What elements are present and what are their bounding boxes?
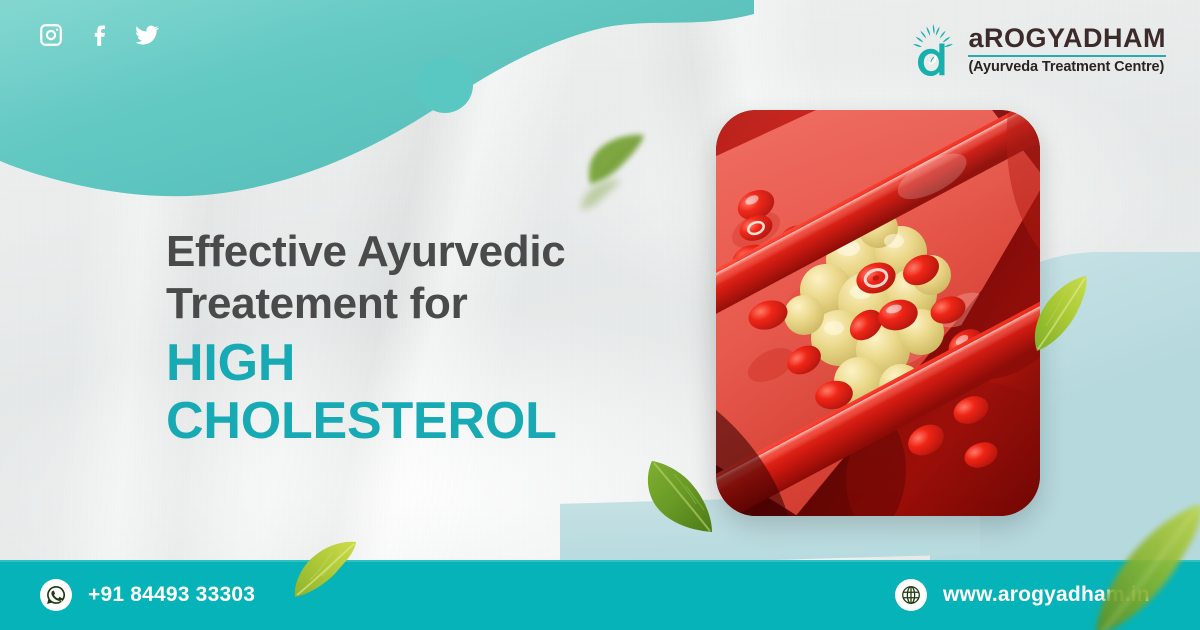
leaf-icon-bottom-left	[292, 538, 362, 600]
phone-number: +91 84493 33303	[88, 583, 255, 607]
headline-line-2: Treatement for	[166, 278, 696, 330]
brand-logo[interactable]: aROGYADHAM (Ayurveda Treatment Centre)	[908, 22, 1166, 78]
instagram-icon[interactable]	[38, 22, 64, 48]
headline-line-1: Effective Ayurvedic	[166, 226, 696, 278]
leaf-icon-top-blur	[586, 132, 648, 188]
promotional-banner: aROGYADHAM (Ayurveda Treatment Centre) E…	[0, 0, 1200, 630]
leaf-icon-right	[1030, 272, 1092, 356]
social-links	[38, 22, 160, 48]
whatsapp-icon[interactable]	[40, 579, 72, 611]
footer-bar: +91 84493 33303 www.arogyadham.in	[0, 560, 1200, 630]
hero-artery-image	[716, 110, 1040, 516]
leafy-letter-a-icon	[908, 22, 958, 78]
leaf-icon-bottom-right-blur	[1088, 498, 1200, 630]
headline-block: Effective Ayurvedic Treatement for HIGH …	[166, 226, 696, 450]
leaf-icon-center-sharp	[640, 452, 728, 538]
globe-icon[interactable]	[895, 579, 927, 611]
logo-wordmark: aROGYADHAM (Ayurveda Treatment Centre)	[968, 25, 1166, 76]
teal-dot-decoration	[417, 57, 473, 113]
facebook-icon[interactable]	[86, 22, 112, 48]
twitter-icon[interactable]	[134, 22, 160, 48]
logo-name: aROGYADHAM	[968, 25, 1166, 53]
headline-line-3-highlight: HIGH CHOLESTEROL	[166, 334, 696, 450]
logo-divider	[968, 55, 1166, 57]
artery-illustration	[716, 110, 1040, 516]
contact-phone[interactable]: +91 84493 33303	[40, 579, 255, 611]
logo-tagline: (Ayurveda Treatment Centre)	[968, 59, 1166, 75]
